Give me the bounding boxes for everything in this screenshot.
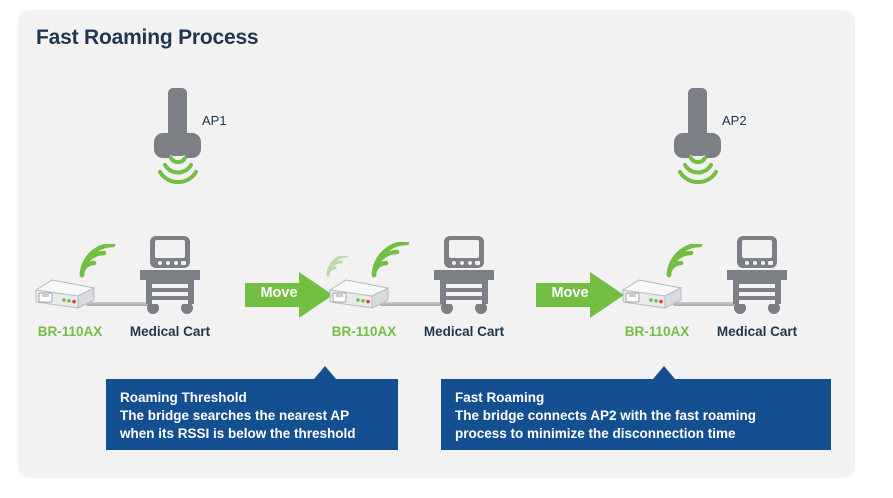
- callout-title: Roaming Threshold: [120, 389, 384, 407]
- bridge-label: BR-110AX: [24, 324, 116, 339]
- medical-cart-icon: [723, 236, 791, 314]
- bridge-label: BR-110AX: [611, 324, 703, 339]
- wifi-waves-down-icon: [677, 154, 719, 184]
- page-title: Fast Roaming Process: [36, 26, 258, 50]
- cart-label: Medical Cart: [122, 324, 218, 339]
- access-point-ap1: AP1: [140, 88, 260, 203]
- bridge-label: BR-110AX: [318, 324, 410, 339]
- callout-line-2: when its RSSI is below the threshold: [120, 425, 384, 443]
- wifi-signal-strong-icon: [76, 244, 118, 278]
- callout-title: Fast Roaming: [455, 389, 817, 407]
- callout-line-1: The bridge searches the nearest AP: [120, 407, 384, 425]
- callout-fast-roaming: Fast Roaming The bridge connects AP2 wit…: [441, 379, 831, 450]
- network-bridge-icon: [326, 276, 392, 312]
- callout-pointer-icon: [653, 366, 675, 379]
- medical-cart-icon: [430, 236, 498, 314]
- cart-label: Medical Cart: [709, 324, 805, 339]
- callout-roaming-threshold: Roaming Threshold The bridge searches th…: [106, 379, 398, 450]
- wifi-signal-strong-icon: [368, 242, 412, 278]
- diagram-canvas: Fast Roaming Process AP1 AP2: [0, 0, 893, 498]
- medical-cart-icon: [136, 236, 204, 314]
- wifi-signal-strong-icon: [663, 244, 705, 278]
- wifi-waves-down-icon: [157, 154, 199, 184]
- access-point-label: AP2: [722, 113, 747, 128]
- callout-line-2: process to minimize the disconnection ti…: [455, 425, 817, 443]
- access-point-label: AP1: [202, 113, 227, 128]
- wifi-signal-weak-icon: [324, 256, 350, 277]
- network-bridge-icon: [32, 276, 98, 312]
- node-group-1: BR-110AX Medical Cart: [24, 236, 239, 356]
- callout-line-1: The bridge connects AP2 with the fast ro…: [455, 407, 817, 425]
- node-group-3: BR-110AX Medical Cart: [611, 236, 826, 356]
- network-bridge-icon: [619, 276, 685, 312]
- node-group-2: BR-110AX Medical Cart: [318, 236, 533, 356]
- cart-label: Medical Cart: [416, 324, 512, 339]
- access-point-ap2: AP2: [660, 88, 780, 203]
- callout-pointer-icon: [314, 366, 336, 379]
